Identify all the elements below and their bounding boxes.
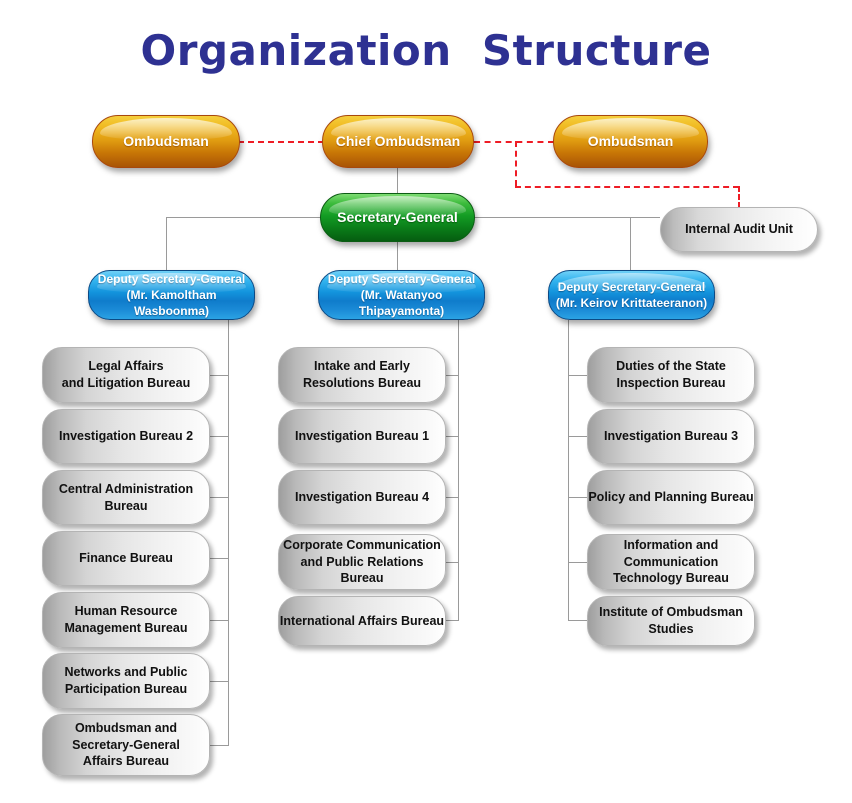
branch-right-2 xyxy=(568,436,587,437)
node-label: Investigation Bureau 3 xyxy=(604,428,738,445)
node-label: Deputy Secretary-General (Mr. Keirov Kri… xyxy=(556,279,707,311)
branch-left-1 xyxy=(210,375,229,376)
node-bureau-left-2[interactable]: Investigation Bureau 2 xyxy=(42,409,210,464)
node-bureau-left-5[interactable]: Human Resource Management Bureau xyxy=(42,592,210,648)
node-secretary-general[interactable]: Secretary-General xyxy=(320,193,475,242)
node-label: Investigation Bureau 2 xyxy=(59,428,193,445)
node-label: Deputy Secretary-General (Mr. Kamoltham … xyxy=(89,271,254,320)
node-bureau-middle-4[interactable]: Corporate Communication and Public Relat… xyxy=(278,534,446,590)
branch-left-2 xyxy=(210,436,229,437)
dashed-right-ombudsman-link xyxy=(474,141,554,143)
node-deputy-secretary-general-1[interactable]: Deputy Secretary-General (Mr. Kamoltham … xyxy=(88,270,255,320)
node-label: Networks and Public Participation Bureau xyxy=(65,664,188,698)
node-label: Policy and Planning Bureau xyxy=(588,489,753,506)
node-bureau-middle-5[interactable]: International Affairs Bureau xyxy=(278,596,446,646)
node-deputy-secretary-general-3[interactable]: Deputy Secretary-General (Mr. Keirov Kri… xyxy=(548,270,715,320)
node-label: Corporate Communication and Public Relat… xyxy=(279,537,445,588)
connector-bus-to-deputy-left xyxy=(166,217,167,270)
dashed-audit-drop-1 xyxy=(515,141,517,186)
node-chief-ombudsman[interactable]: Chief Ombudsman xyxy=(322,115,474,168)
node-bureau-middle-2[interactable]: Investigation Bureau 1 xyxy=(278,409,446,464)
node-label: Secretary-General xyxy=(337,208,458,227)
node-label: Investigation Bureau 4 xyxy=(295,489,429,506)
branch-left-7 xyxy=(210,745,229,746)
node-deputy-secretary-general-2[interactable]: Deputy Secretary-General (Mr. Watanyoo T… xyxy=(318,270,485,320)
node-bureau-middle-3[interactable]: Investigation Bureau 4 xyxy=(278,470,446,525)
node-label: Internal Audit Unit xyxy=(685,221,793,238)
org-chart: Organization Structure Ombudsman Chie xyxy=(0,0,852,803)
node-bureau-left-1[interactable]: Legal Affairs and Litigation Bureau xyxy=(42,347,210,403)
page-title: Organization Structure xyxy=(0,26,852,75)
dashed-left-ombudsman-link xyxy=(238,141,324,143)
branch-left-5 xyxy=(210,620,229,621)
node-label: International Affairs Bureau xyxy=(280,613,444,630)
node-bureau-right-1[interactable]: Duties of the State Inspection Bureau xyxy=(587,347,755,403)
branch-right-4 xyxy=(568,562,587,563)
branch-left-6 xyxy=(210,681,229,682)
node-label: Central Administration Bureau xyxy=(43,481,209,515)
node-label: Investigation Bureau 1 xyxy=(295,428,429,445)
node-bureau-middle-1[interactable]: Intake and Early Resolutions Bureau xyxy=(278,347,446,403)
node-label: Legal Affairs and Litigation Bureau xyxy=(62,358,190,392)
node-bureau-left-7[interactable]: Ombudsman and Secretary-General Affairs … xyxy=(42,714,210,776)
node-label: Human Resource Management Bureau xyxy=(65,603,188,637)
node-internal-audit-unit[interactable]: Internal Audit Unit xyxy=(660,207,818,252)
connector-bus-to-deputy-middle xyxy=(397,242,398,270)
node-bureau-right-3[interactable]: Policy and Planning Bureau xyxy=(587,470,755,525)
node-bureau-right-4[interactable]: Information and Communication Technology… xyxy=(587,534,755,590)
spine-middle-column xyxy=(458,320,459,620)
branch-left-4 xyxy=(210,558,229,559)
node-label: Ombudsman xyxy=(123,132,209,151)
node-bureau-left-6[interactable]: Networks and Public Participation Bureau xyxy=(42,653,210,709)
branch-right-1 xyxy=(568,375,587,376)
branch-right-3 xyxy=(568,497,587,498)
node-ombudsman-left[interactable]: Ombudsman xyxy=(92,115,240,168)
connector-secgen-to-audit xyxy=(475,217,660,218)
node-bureau-right-5[interactable]: Institute of Ombudsman Studies xyxy=(587,596,755,646)
node-label: Deputy Secretary-General (Mr. Watanyoo T… xyxy=(319,271,484,320)
node-label: Institute of Ombudsman Studies xyxy=(588,604,754,638)
node-label: Intake and Early Resolutions Bureau xyxy=(303,358,421,392)
node-label: Duties of the State Inspection Bureau xyxy=(616,358,726,392)
node-ombudsman-right[interactable]: Ombudsman xyxy=(553,115,708,168)
connector-bus-to-deputy-right xyxy=(630,217,631,270)
node-label: Chief Ombudsman xyxy=(336,132,460,151)
dashed-audit-drop-2 xyxy=(738,186,740,208)
branch-left-3 xyxy=(210,497,229,498)
node-label: Information and Communication Technology… xyxy=(588,537,754,588)
node-bureau-left-3[interactable]: Central Administration Bureau xyxy=(42,470,210,525)
node-bureau-right-2[interactable]: Investigation Bureau 3 xyxy=(587,409,755,464)
node-label: Ombudsman xyxy=(588,132,674,151)
node-bureau-left-4[interactable]: Finance Bureau xyxy=(42,531,210,586)
spine-right-column xyxy=(568,320,569,620)
branch-right-5 xyxy=(568,620,587,621)
dashed-audit-run xyxy=(515,186,739,188)
node-label: Ombudsman and Secretary-General Affairs … xyxy=(72,720,180,771)
node-label: Finance Bureau xyxy=(79,550,173,567)
